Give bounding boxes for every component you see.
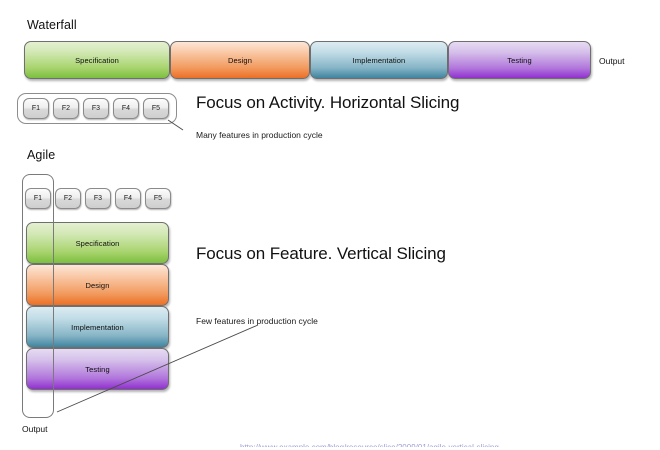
agile-vertical-slice-top (22, 174, 54, 188)
phase-label: Design (86, 281, 110, 290)
waterfall-feature-f1: F1 (23, 98, 49, 119)
waterfall-phase-implementation: Implementation (310, 41, 448, 79)
footer-source-link[interactable]: http://www.example.com/blog/resource/sli… (240, 443, 499, 447)
feature-label: F5 (154, 195, 162, 202)
agile-feature-f4: F4 (115, 188, 141, 209)
phase-label: Implementation (353, 56, 406, 65)
agile-heading: Agile (27, 148, 55, 162)
phase-label: Testing (85, 365, 109, 374)
waterfall-phase-design: Design (170, 41, 310, 79)
agile-vertical-slice-overlay (22, 222, 54, 393)
waterfall-feature-f5: F5 (143, 98, 169, 119)
feature-label: F3 (92, 105, 100, 112)
feature-label: F2 (64, 195, 72, 202)
feature-label: F5 (152, 105, 160, 112)
agile-feature-f3: F3 (85, 188, 111, 209)
feature-label: F1 (32, 105, 40, 112)
agile-feature-f1: F1 (25, 188, 51, 209)
waterfall-feature-f2: F2 (53, 98, 79, 119)
waterfall-output-label: Output (599, 56, 625, 66)
waterfall-heading: Waterfall (27, 18, 77, 32)
phase-label: Specification (76, 239, 120, 248)
agile-feature-f5: F5 (145, 188, 171, 209)
waterfall-tagline: Focus on Activity. Horizontal Slicing (196, 93, 459, 113)
waterfall-phase-specification: Specification (24, 41, 170, 79)
waterfall-feature-f4: F4 (113, 98, 139, 119)
waterfall-annotation: Many features in production cycle (196, 130, 323, 140)
feature-label: F3 (94, 195, 102, 202)
phase-label: Specification (75, 56, 119, 65)
feature-label: F4 (122, 105, 130, 112)
feature-label: F1 (34, 195, 42, 202)
diagram-canvas: Waterfall Specification Design Implement… (0, 0, 660, 450)
waterfall-feature-f3: F3 (83, 98, 109, 119)
agile-annotation: Few features in production cycle (196, 316, 318, 326)
phase-label: Design (228, 56, 252, 65)
agile-vertical-slice-bottom (22, 393, 54, 418)
waterfall-phase-testing: Testing (448, 41, 591, 79)
agile-tagline: Focus on Feature. Vertical Slicing (196, 244, 446, 264)
feature-label: F4 (124, 195, 132, 202)
phase-label: Implementation (71, 323, 124, 332)
feature-label: F2 (62, 105, 70, 112)
phase-label: Testing (507, 56, 531, 65)
agile-feature-f2: F2 (55, 188, 81, 209)
agile-output-label: Output (22, 424, 48, 434)
